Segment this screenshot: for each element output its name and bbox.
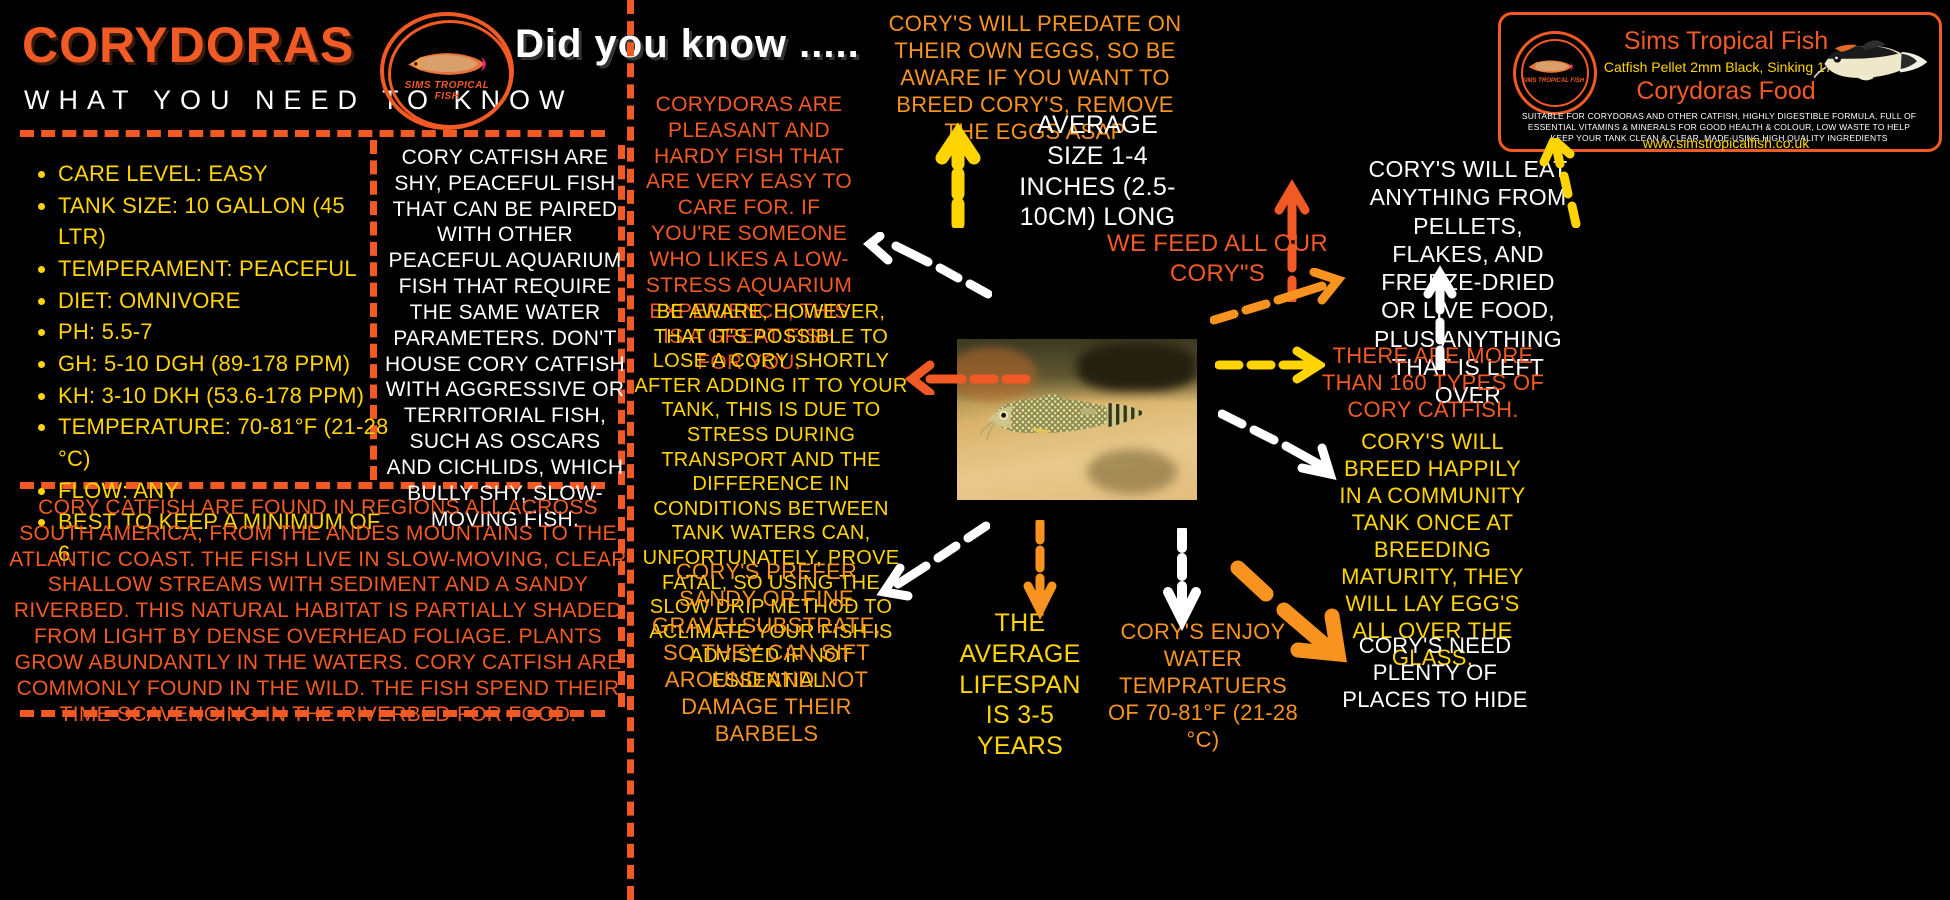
label-arowana-icon <box>1526 56 1574 76</box>
arrow-orange-left <box>900 355 1030 395</box>
corydoras-fish-illustration <box>979 391 1149 443</box>
list-item: PH: 5.5-7 <box>58 316 390 348</box>
average-size-text: AVERAGE SIZE 1-4 INCHES (2.5-10CM) LONG <box>1005 110 1190 233</box>
arrow-white-up-right <box>1420 250 1460 370</box>
arrow-white-downleft <box>870 520 990 605</box>
arrow-yellow-up-left <box>932 118 984 228</box>
product-label-card[interactable]: SIMS TROPICAL FISH Sims Tropical Fish Ca… <box>1498 12 1942 152</box>
tankmates-paragraph: CORY CATFISH ARE SHY, PEACEFUL FISH THAT… <box>385 145 625 532</box>
label-logo-wordmark: SIMS TROPICAL FISH <box>1516 78 1590 84</box>
divider-top <box>20 130 605 137</box>
habitat-paragraph: CORY CATFISH ARE FOUND IN REGIONS ALL AC… <box>8 495 628 727</box>
arrow-orange-upright <box>1210 268 1360 328</box>
lifespan-text: THE AVERAGE LIFESPAN IS 3-5 YEARS <box>945 608 1095 762</box>
label-logo-ring: SIMS TROPICAL FISH <box>1513 31 1597 115</box>
arrow-yellow-up-to-label <box>1538 138 1598 228</box>
arrow-yellow-right <box>1215 345 1325 385</box>
list-item: GH: 5-10 DGH (89-178 PPM) <box>58 348 390 380</box>
list-item: TANK SIZE: 10 GALLON (45 LTR) <box>58 190 390 253</box>
brand-logo: SIMS TROPICAL FISH <box>378 10 514 128</box>
arrow-white-down <box>1160 528 1204 640</box>
arrow-orange-down <box>1020 520 1060 630</box>
list-item: KH: 3-10 DKH (53.6-178 PPM) <box>58 380 390 412</box>
did-you-know-heading: Did you know ..... <box>515 22 860 67</box>
infographic-canvas: CORYDORAS WHAT YOU NEED TO KNOW SIMS TRO… <box>0 0 1950 900</box>
list-item: TEMPERAMENT: PEACEFUL <box>58 253 390 285</box>
arrow-white-upleft <box>862 232 992 302</box>
arowana-fish-icon <box>404 46 488 80</box>
list-item: TEMPERATURE: 70-81°F (21-28 °C) <box>58 411 390 474</box>
list-item: DIET: OMNIVORE <box>58 285 390 317</box>
arrow-white-downright <box>1218 408 1348 488</box>
logo-wordmark: SIMS TROPICAL FISH <box>392 80 502 102</box>
label-website-url[interactable]: www.simstropicalfish.co.uk <box>1591 135 1861 151</box>
page-title: CORYDORAS <box>22 16 354 74</box>
substrate-paragraph: CORY'S PREFER SANDY OR FINE GRAVELSUBSTR… <box>645 558 888 747</box>
label-corydoras-icon <box>1809 33 1929 93</box>
list-item: CARE LEVEL: EASY <box>58 158 390 190</box>
arrow-orange-big-downright <box>1228 560 1378 670</box>
